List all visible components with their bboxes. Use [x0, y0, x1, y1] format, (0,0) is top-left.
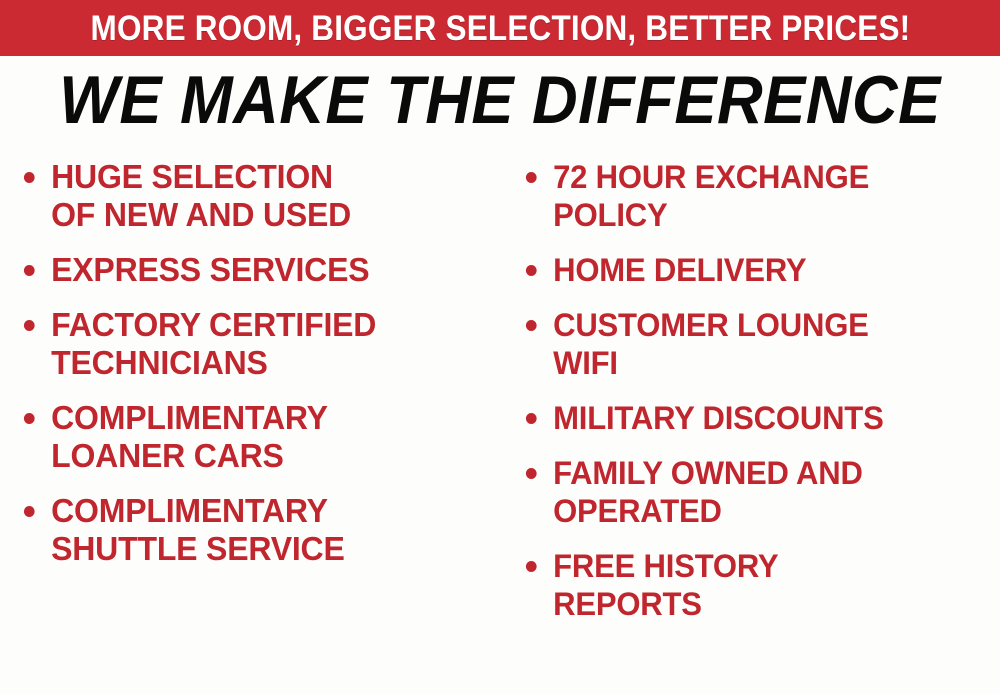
list-item: EXPRESS SERVICES	[22, 251, 482, 289]
list-item-label: COMPLIMENTARY SHUTTLE SERVICE	[51, 492, 482, 568]
list-item: COMPLIMENTARY SHUTTLE SERVICE	[22, 492, 482, 568]
list-item-label: 72 HOUR EXCHANGE POLICY	[553, 158, 986, 234]
main-headline-text: WE MAKE THE DIFFERENCE	[59, 64, 941, 136]
bullet-dot-icon	[24, 265, 35, 276]
list-item: MILITARY DISCOUNTS	[524, 399, 986, 437]
top-banner: MORE ROOM, BIGGER SELECTION, BETTER PRIC…	[0, 0, 1000, 56]
bullet-dot-icon	[24, 320, 35, 331]
bullet-dot-icon	[526, 413, 537, 424]
banner-headline-text: MORE ROOM, BIGGER SELECTION, BETTER PRIC…	[90, 11, 910, 46]
bullet-dot-icon	[526, 320, 537, 331]
main-headline: WE MAKE THE DIFFERENCE	[0, 64, 1000, 136]
list-item-label: FACTORY CERTIFIED TECHNICIANS	[51, 306, 482, 382]
bullet-dot-icon	[526, 172, 537, 183]
benefits-list-left: HUGE SELECTION OF NEW AND USED EXPRESS S…	[22, 158, 496, 568]
bullet-dot-icon	[24, 413, 35, 424]
bullet-dot-icon	[526, 265, 537, 276]
list-item: 72 HOUR EXCHANGE POLICY	[524, 158, 986, 234]
list-item: HOME DELIVERY	[524, 251, 986, 289]
list-item: FREE HISTORY REPORTS	[524, 547, 986, 623]
list-item-label: CUSTOMER LOUNGE WIFI	[553, 306, 986, 382]
list-item-label: MILITARY DISCOUNTS	[553, 399, 986, 437]
list-item: FACTORY CERTIFIED TECHNICIANS	[22, 306, 482, 382]
benefits-columns: HUGE SELECTION OF NEW AND USED EXPRESS S…	[0, 158, 1000, 694]
list-item-label: COMPLIMENTARY LOANER CARS	[51, 399, 482, 475]
list-item-label: FAMILY OWNED AND OPERATED	[553, 454, 986, 530]
bullet-dot-icon	[24, 506, 35, 517]
list-item-label: EXPRESS SERVICES	[51, 251, 482, 289]
list-item-label: HUGE SELECTION OF NEW AND USED	[51, 158, 482, 234]
list-item-label: HOME DELIVERY	[553, 251, 986, 289]
list-item: FAMILY OWNED AND OPERATED	[524, 454, 986, 530]
bullet-dot-icon	[526, 468, 537, 479]
benefits-column-right: 72 HOUR EXCHANGE POLICY HOME DELIVERY CU…	[500, 158, 1000, 640]
list-item-label: FREE HISTORY REPORTS	[553, 547, 986, 623]
bullet-dot-icon	[24, 172, 35, 183]
list-item: CUSTOMER LOUNGE WIFI	[524, 306, 986, 382]
benefits-column-left: HUGE SELECTION OF NEW AND USED EXPRESS S…	[0, 158, 500, 585]
promotional-poster: MORE ROOM, BIGGER SELECTION, BETTER PRIC…	[0, 0, 1000, 694]
bullet-dot-icon	[526, 561, 537, 572]
list-item: HUGE SELECTION OF NEW AND USED	[22, 158, 482, 234]
list-item: COMPLIMENTARY LOANER CARS	[22, 399, 482, 475]
benefits-list-right: 72 HOUR EXCHANGE POLICY HOME DELIVERY CU…	[524, 158, 1000, 623]
